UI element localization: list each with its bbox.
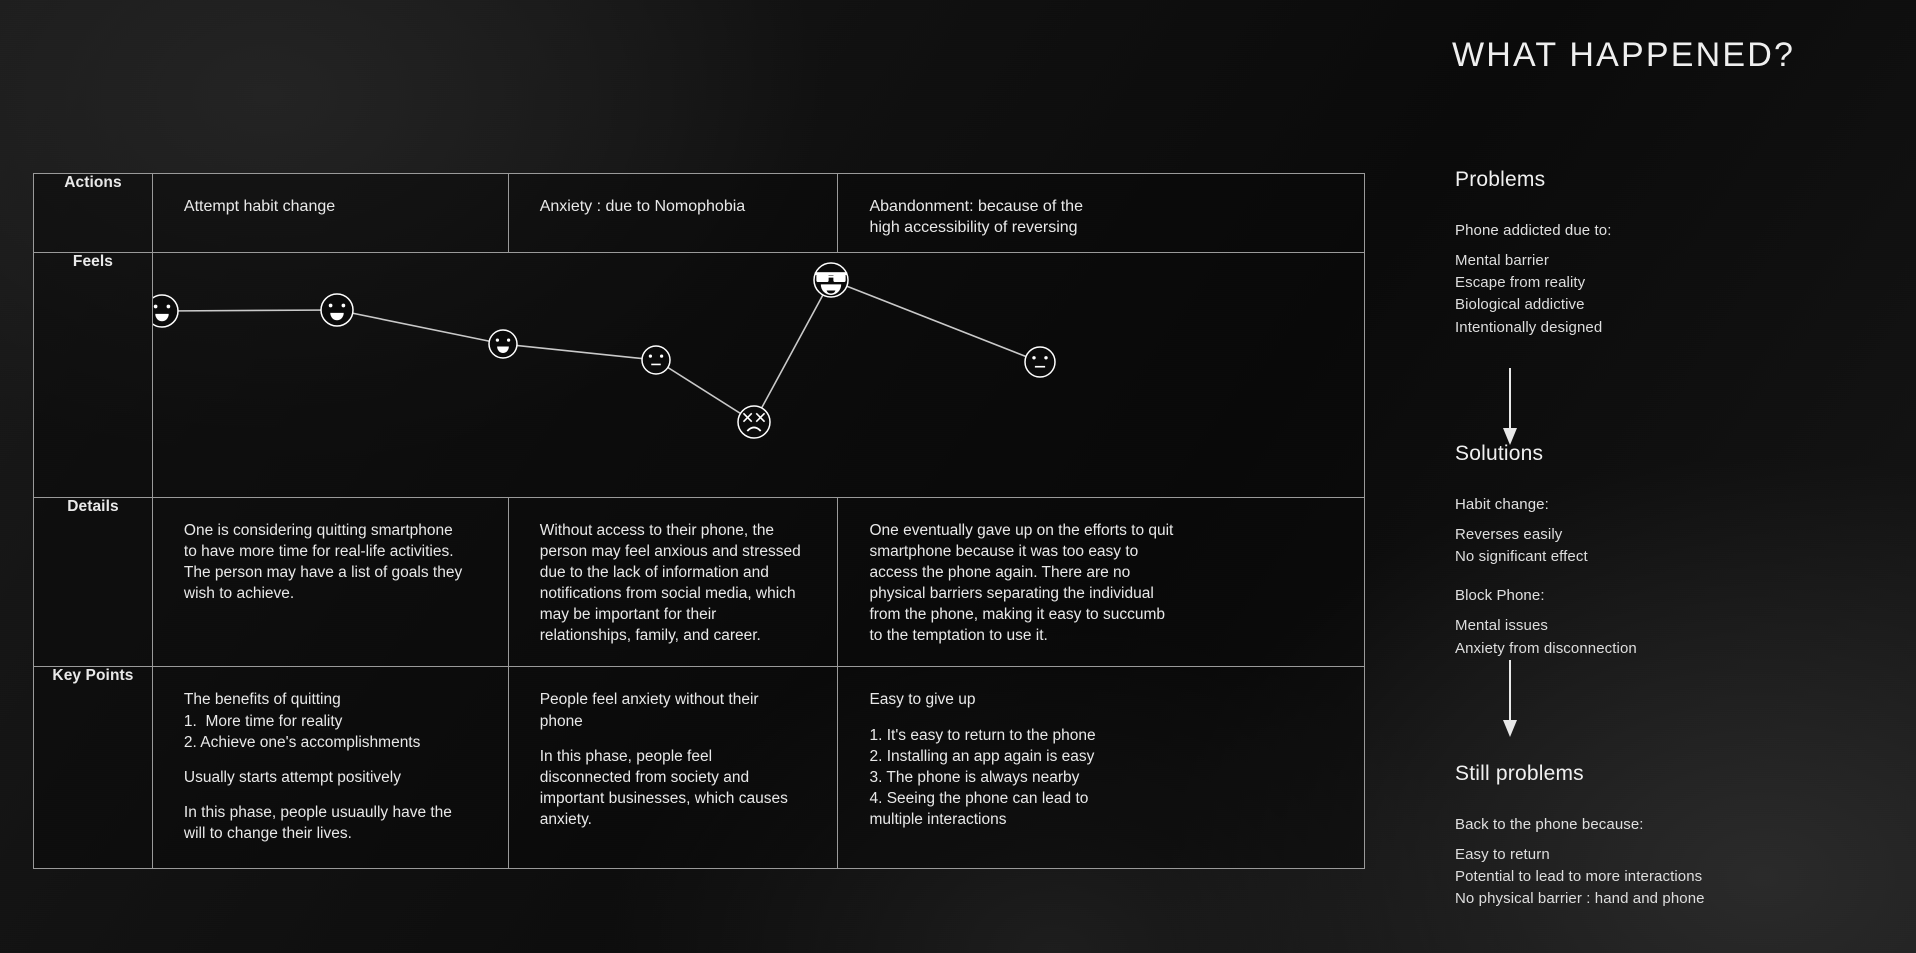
section-problems-intro: Phone addicted due to: (1455, 222, 1895, 239)
row-label-feels: Feels (34, 253, 153, 498)
list-item: Mental barrier (1455, 250, 1895, 272)
key-points-cell-3-text: Easy to give up1. It's easy to return to… (869, 689, 1141, 829)
section-solutions-list: Reverses easily No significant effect (1455, 524, 1895, 568)
actions-cell-3-text: Abandonment: because of the high accessi… (869, 196, 1111, 238)
key-points-cell-3: Easy to give up1. It's easy to return to… (838, 667, 1365, 868)
section-still-problems-list: Easy to return Potential to lead to more… (1455, 844, 1895, 911)
list-item: Potential to lead to more interactions (1455, 866, 1895, 888)
table-row-key-points: Key Points The benefits of quitting1. Mo… (34, 667, 1365, 868)
key-points-line: Usually starts attempt positively (184, 767, 474, 788)
summary-panel: WHAT HAPPENED? Problems Phone addicted d… (1452, 0, 1916, 953)
section-still-problems-intro: Back to the phone because: (1455, 816, 1895, 833)
key-points-line: 4. Seeing the phone can lead to multiple… (869, 788, 1141, 830)
distressed-face (738, 406, 770, 438)
list-item: Biological addictive (1455, 294, 1895, 316)
key-points-cell-1-text: The benefits of quitting1. More time for… (184, 689, 474, 843)
section-solutions-intro: Habit change: (1455, 496, 1895, 513)
details-cell-1: One is considering quitting smartphone t… (152, 498, 508, 667)
down-arrow-icon (1498, 660, 1522, 738)
table-row-details: Details One is considering quitting smar… (34, 498, 1365, 667)
neutral-face (642, 346, 670, 374)
details-cell-1-text: One is considering quitting smartphone t… (184, 520, 469, 604)
list-item: Escape from reality (1455, 272, 1895, 294)
list-item: No physical barrier : hand and phone (1455, 888, 1895, 910)
emotion-trend-line (162, 280, 1040, 422)
key-points-block: In this phase, people feel disconnected … (540, 746, 804, 830)
key-points-line: Easy to give up (869, 689, 1141, 710)
page-title: WHAT HAPPENED? (1452, 36, 1795, 75)
section-solutions-sub-intro: Block Phone: (1455, 587, 1895, 604)
key-points-line: 2. Achieve one's accomplishments (184, 732, 474, 753)
key-points-line: 3. The phone is always nearby (869, 767, 1141, 788)
key-points-cell-1: The benefits of quitting1. More time for… (152, 667, 508, 868)
key-points-line: The benefits of quitting (184, 689, 474, 710)
section-problems: Problems Phone addicted due to: Mental b… (1455, 168, 1895, 339)
journey-map-table: Actions Attempt habit change Anxiety : d… (33, 173, 1365, 869)
details-cell-3: One eventually gave up on the efforts to… (838, 498, 1365, 667)
list-item: Intentionally designed (1455, 317, 1895, 339)
journey-map-slide: Actions Attempt habit change Anxiety : d… (0, 0, 1916, 953)
key-points-block: People feel anxiety without their phone (540, 689, 804, 731)
key-points-line: 1. It's easy to return to the phone (869, 725, 1141, 746)
actions-cell-2: Anxiety : due to Nomophobia (508, 174, 838, 253)
section-problems-heading: Problems (1455, 168, 1895, 192)
row-label-actions: Actions (34, 174, 153, 253)
table-row-feels: Feels (34, 253, 1365, 498)
row-label-details: Details (34, 498, 153, 667)
actions-cell-3: Abandonment: because of the high accessi… (838, 174, 1365, 253)
details-cell-2-text: Without access to their phone, the perso… (540, 520, 804, 646)
down-arrow-icon (1498, 368, 1522, 446)
key-points-line: In this phase, people feel disconnected … (540, 746, 804, 830)
details-cell-3-text: One eventually gave up on the efforts to… (869, 520, 1175, 646)
list-item: Anxiety from disconnection (1455, 638, 1895, 660)
table-row-actions: Actions Attempt habit change Anxiety : d… (34, 174, 1365, 253)
key-points-line: People feel anxiety without their phone (540, 689, 804, 731)
key-points-block: Easy to give up (869, 689, 1141, 710)
emotion-chart-svg (153, 253, 1366, 498)
section-solutions-heading: Solutions (1455, 442, 1895, 466)
neutral-face (1025, 347, 1055, 377)
key-points-line: 2. Installing an app again is easy (869, 746, 1141, 767)
happy-face (153, 295, 178, 327)
cool-face (814, 263, 848, 297)
key-points-cell-2-text: People feel anxiety without their phoneI… (540, 689, 804, 829)
row-label-key-points: Key Points (34, 667, 153, 868)
section-problems-list: Mental barrier Escape from reality Biolo… (1455, 250, 1895, 339)
section-still-problems: Still problems Back to the phone because… (1455, 762, 1895, 911)
feels-chart-cell (152, 253, 1364, 498)
key-points-block: Usually starts attempt positively (184, 767, 474, 788)
key-points-line: 1. More time for reality (184, 711, 474, 732)
key-points-block: 1. It's easy to return to the phone2. In… (869, 725, 1141, 830)
key-points-cell-2: People feel anxiety without their phoneI… (508, 667, 838, 868)
section-solutions: Solutions Habit change: Reverses easily … (1455, 442, 1895, 660)
list-item: Mental issues (1455, 615, 1895, 637)
emotion-line-chart (153, 253, 1364, 497)
list-item: Reverses easily (1455, 524, 1895, 546)
list-item: No significant effect (1455, 546, 1895, 568)
happy-face (489, 330, 517, 358)
happy-face (321, 294, 353, 326)
details-cell-2: Without access to their phone, the perso… (508, 498, 838, 667)
key-points-block: The benefits of quitting1. More time for… (184, 689, 474, 752)
key-points-block: In this phase, people usuaully have the … (184, 802, 474, 844)
key-points-line: In this phase, people usuaully have the … (184, 802, 474, 844)
section-solutions-sub-list: Mental issues Anxiety from disconnection (1455, 615, 1895, 659)
section-still-problems-heading: Still problems (1455, 762, 1895, 786)
actions-cell-1: Attempt habit change (152, 174, 508, 253)
list-item: Easy to return (1455, 844, 1895, 866)
